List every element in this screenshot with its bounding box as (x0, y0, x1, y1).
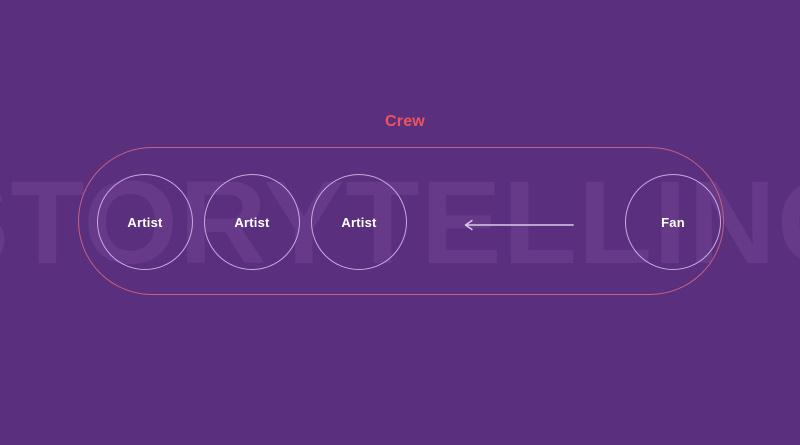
arrow-left-icon (455, 208, 585, 242)
node-artist-2-label: Artist (234, 215, 269, 230)
node-artist-3-label: Artist (341, 215, 376, 230)
node-artist-1[interactable]: Artist (97, 174, 193, 270)
node-artist-1-label: Artist (127, 215, 162, 230)
node-artist-2[interactable]: Artist (204, 174, 300, 270)
node-fan[interactable]: Fan (625, 174, 721, 270)
diagram-canvas: STORYTELLING Crew Artist Artist Artist F… (0, 0, 800, 445)
node-artist-3[interactable]: Artist (311, 174, 407, 270)
crew-group-label-text: Crew (385, 113, 425, 131)
node-fan-label: Fan (661, 215, 685, 230)
crew-group-label: Crew (0, 113, 800, 131)
